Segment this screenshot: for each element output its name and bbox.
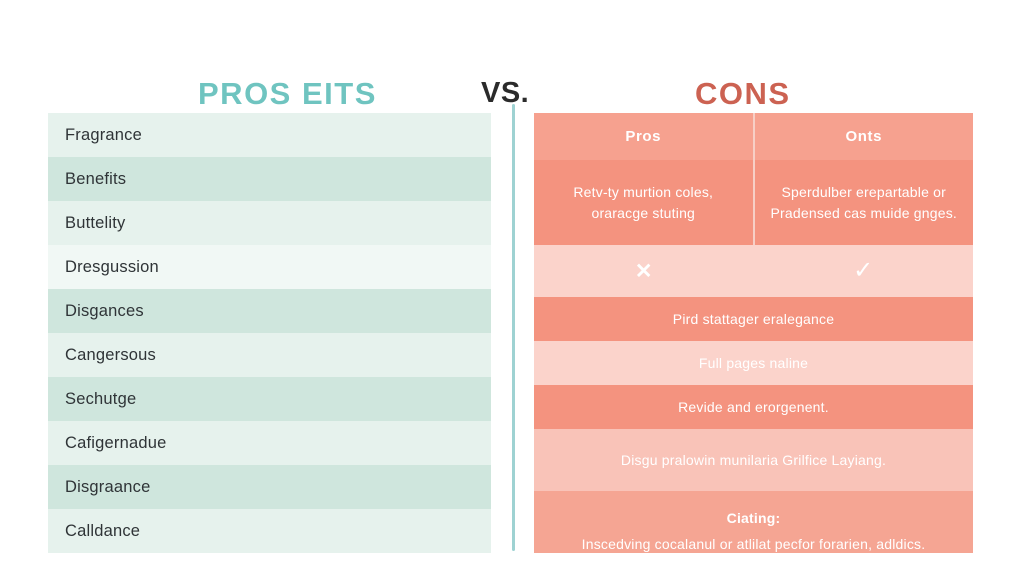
list-item-label: Dresgussion xyxy=(65,258,159,277)
list-item[interactable]: Benefits xyxy=(48,157,491,201)
list-item[interactable]: Fragrance xyxy=(48,113,491,157)
column-header-pros: Pros xyxy=(534,113,755,160)
row-text: Full pages naline xyxy=(534,341,973,385)
pros-list: Fragrance Benefits Buttelity Dresgussion… xyxy=(48,113,491,553)
table-row-last[interactable]: Ciating: Inscedving cocalanul or atlilat… xyxy=(534,491,973,553)
row-text: Pird stattager eralegance xyxy=(534,297,973,341)
column-header-onts: Onts xyxy=(755,113,974,160)
last-row-text: Inscedving cocalanul or atlilat pecfor f… xyxy=(582,534,926,553)
list-item-label: Benefits xyxy=(65,170,126,189)
list-item-label: Buttelity xyxy=(65,214,126,233)
check-mark-icon: ✓ xyxy=(853,259,873,283)
list-item-label: Fragrance xyxy=(65,126,142,145)
list-item-label: Calldance xyxy=(65,522,140,541)
last-row-caption: Ciating: xyxy=(727,508,781,528)
cell-last: Ciating: Inscedving cocalanul or atlilat… xyxy=(534,491,973,553)
list-item-label: Cangersous xyxy=(65,346,156,365)
table-row[interactable]: Disgu pralowin munilaria Grilfice Layian… xyxy=(534,429,973,491)
list-item-label: Disgances xyxy=(65,302,144,321)
list-item-label: Disgraance xyxy=(65,478,150,497)
list-item[interactable]: Buttelity xyxy=(48,201,491,245)
list-item-label: Cafigernadue xyxy=(65,434,166,453)
cell-intro-right: Sperdulber erepartable or Pradensed cas … xyxy=(755,160,974,245)
cell-intro-left: Retv-ty murtion coles, oraracge stuting xyxy=(534,160,755,245)
cross-mark-icon: ✕ xyxy=(635,261,653,282)
row-text: Disgu pralowin munilaria Grilfice Layian… xyxy=(534,429,973,491)
cons-table: Pros Onts Retv-ty murtion coles, oraracg… xyxy=(534,113,973,553)
list-item[interactable]: Disgances xyxy=(48,289,491,333)
vs-heading: VS. xyxy=(481,79,529,108)
table-header-row: Pros Onts xyxy=(534,113,973,160)
table-row[interactable]: Revide and erorgenent. xyxy=(534,385,973,429)
list-item-label: Sechutge xyxy=(65,390,136,409)
comparison-infographic: PROS EITS VS. CONS Fragrance Benefits Bu… xyxy=(0,0,1024,576)
table-row[interactable]: Full pages naline xyxy=(534,341,973,385)
list-item[interactable]: Sechutge xyxy=(48,377,491,421)
pros-heading: PROS EITS xyxy=(198,78,377,109)
table-row-marks[interactable]: ✕ ✓ xyxy=(534,245,973,297)
cons-heading: CONS xyxy=(695,78,791,109)
list-item[interactable]: Calldance xyxy=(48,509,491,553)
cell-check: ✓ xyxy=(754,245,974,297)
list-item[interactable]: Disgraance xyxy=(48,465,491,509)
headers-row: PROS EITS VS. CONS xyxy=(0,34,1024,90)
table-row[interactable]: Pird stattager eralegance xyxy=(534,297,973,341)
list-item[interactable]: Dresgussion xyxy=(48,245,491,289)
row-text: Revide and erorgenent. xyxy=(534,385,973,429)
table-row[interactable]: Retv-ty murtion coles, oraracge stuting … xyxy=(534,160,973,245)
vertical-divider xyxy=(512,104,515,551)
list-item[interactable]: Cafigernadue xyxy=(48,421,491,465)
list-item[interactable]: Cangersous xyxy=(48,333,491,377)
cell-cross: ✕ xyxy=(534,245,754,297)
